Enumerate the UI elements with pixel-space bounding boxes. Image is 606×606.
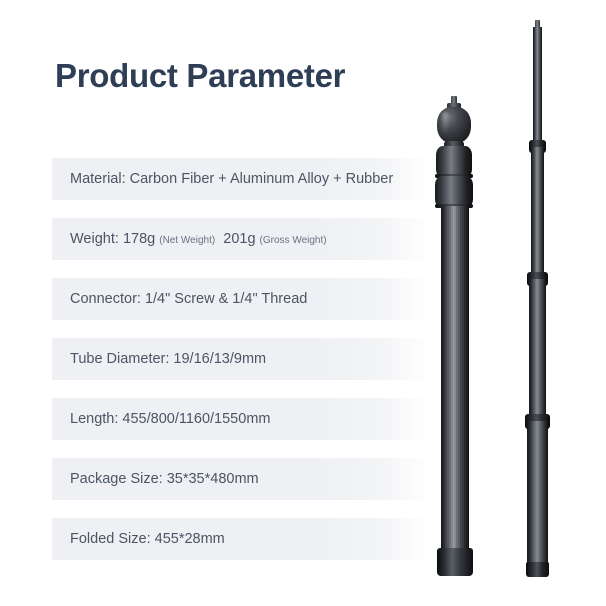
spec-text-material: Material: Carbon Fiber + Aluminum Alloy … <box>70 158 393 200</box>
spec-text-package-size: Package Size: 35*35*480mm <box>70 458 259 500</box>
page-title: Product Parameter <box>55 57 345 95</box>
spec-text-weight: Weight: 178g (Net Weight) 201g (Gross We… <box>70 218 327 260</box>
weight-net-note: (Net Weight) <box>159 235 215 246</box>
rubber-foot-cap <box>437 548 473 576</box>
product-parameter-page: Product Parameter Material: Carbon Fiber… <box>0 0 606 606</box>
ball-head <box>437 107 471 143</box>
extended-section-3 <box>529 279 546 421</box>
weight-net-value: 178g <box>123 231 155 247</box>
extended-section-1 <box>533 27 542 147</box>
spec-text-tube-diameter: Tube Diameter: 19/16/13/9mm <box>70 338 266 380</box>
product-image-monopod-folded <box>424 96 486 576</box>
carbon-fiber-tube <box>441 206 469 554</box>
spec-text-folded-size: Folded Size: 455*28mm <box>70 518 225 560</box>
extended-section-4 <box>527 421 548 567</box>
extended-section-2 <box>531 147 544 279</box>
weight-gross-note: (Gross Weight) <box>260 235 327 246</box>
spec-text-length: Length: 455/800/1160/1550mm <box>70 398 270 440</box>
product-image-monopod-extended <box>524 20 554 576</box>
extended-foot-cap <box>526 562 549 577</box>
spec-text-connector: Connector: 1/4" Screw & 1/4" Thread <box>70 278 307 320</box>
weight-label: Weight: <box>70 231 119 247</box>
weight-gross-value: 201g <box>223 231 255 247</box>
